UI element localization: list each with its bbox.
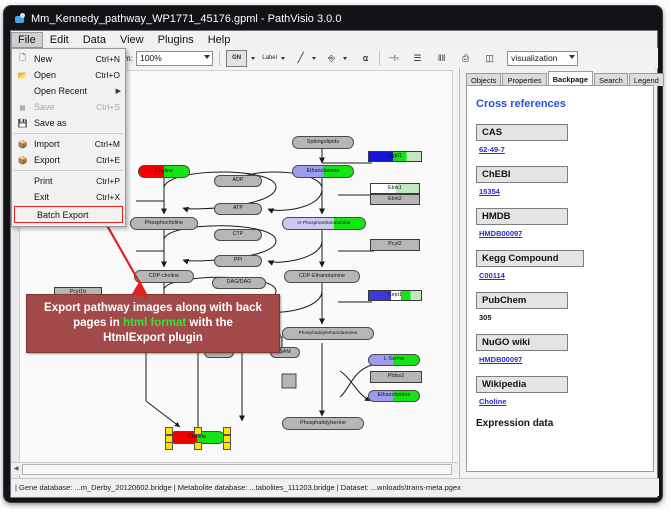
menu-item-open[interactable]: 📂 Open Ctrl+O	[12, 67, 125, 83]
export-icon: 📦	[15, 154, 30, 167]
menu-item-save-as[interactable]: 💾 Save as	[12, 115, 125, 131]
submenu-chevron-icon: ▶	[116, 87, 121, 95]
import-icon: 📦	[15, 138, 30, 151]
menu-item-import[interactable]: 📦 Import Ctrl+M	[12, 136, 125, 152]
save-disk-icon: ◼	[15, 101, 30, 114]
blank-icon	[15, 85, 30, 98]
menu-separator-1	[14, 133, 123, 134]
blank-icon-2	[15, 175, 30, 188]
menu-item-new[interactable]: 🗋 New Ctrl+N	[12, 51, 125, 67]
menu-item-export[interactable]: 📦 Export Ctrl+E	[12, 152, 125, 168]
file-menu-dropdown[interactable]: 🗋 New Ctrl+N 📂 Open Ctrl+O Open Recent ▶…	[11, 48, 126, 227]
save-as-icon: 💾	[15, 117, 30, 130]
blank-icon-3	[15, 191, 30, 204]
menu-item-print[interactable]: Print Ctrl+P	[12, 173, 125, 189]
window-frame: Mm_Kennedy_pathway_WP1771_45176.gpml - P…	[4, 6, 662, 502]
blank-icon-4	[18, 208, 33, 221]
menu-item-batch-export[interactable]: Batch Export	[14, 206, 123, 223]
menu-item-open-recent[interactable]: Open Recent ▶	[12, 83, 125, 99]
open-folder-icon: 📂	[15, 69, 30, 82]
screenshot-root: Mm_Kennedy_pathway_WP1771_45176.gpml - P…	[0, 0, 670, 509]
new-file-icon: 🗋	[15, 53, 30, 66]
menu-item-exit[interactable]: Exit Ctrl+X	[12, 189, 125, 205]
menu-item-save[interactable]: ◼ Save Ctrl+S	[12, 99, 125, 115]
menu-separator-2	[14, 170, 123, 171]
